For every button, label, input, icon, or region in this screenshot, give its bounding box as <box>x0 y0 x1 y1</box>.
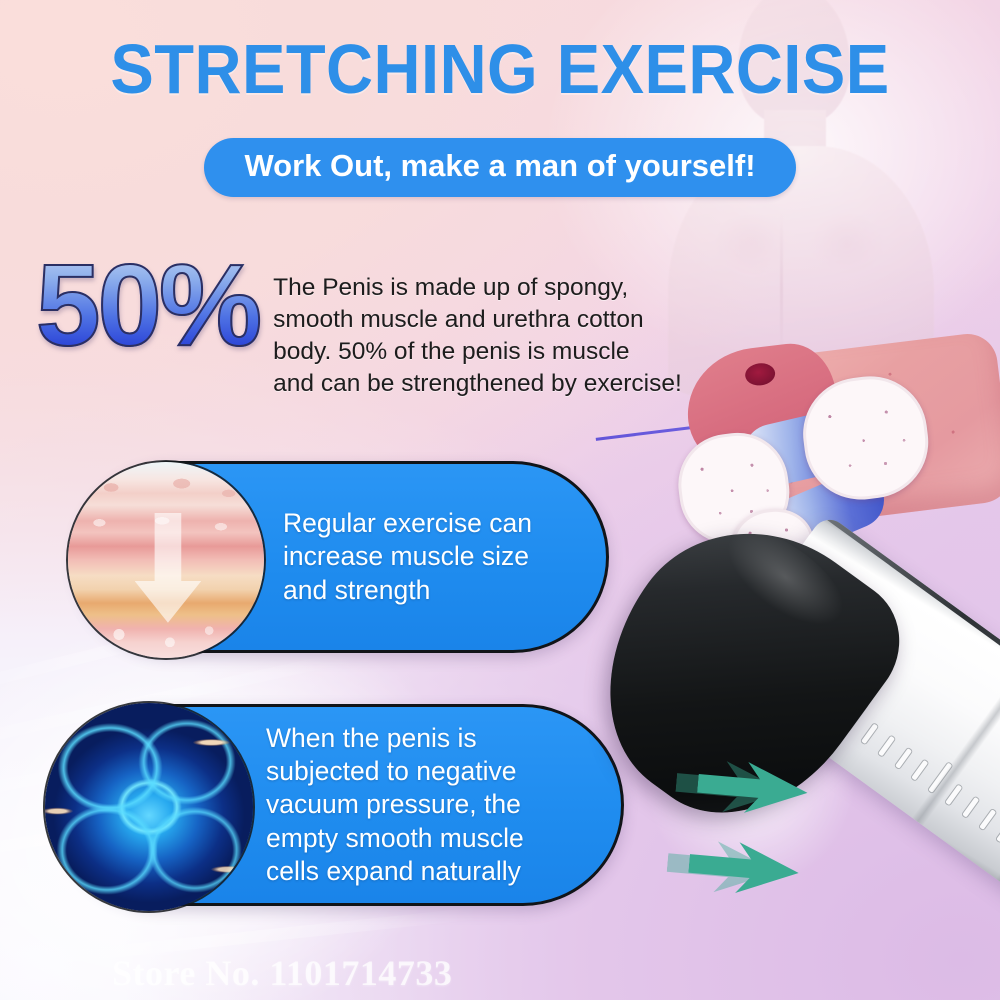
card2-line-3: vacuum pressure, the <box>266 788 524 821</box>
stat-percentage: 50% <box>36 252 259 359</box>
card2-line-5: cells expand naturally <box>266 855 524 888</box>
device-tick <box>895 748 912 769</box>
figure-pec-right <box>808 214 894 288</box>
device-tick <box>878 736 895 757</box>
page-title: STRETCHING EXERCISE <box>35 34 965 104</box>
device-tick <box>912 760 929 781</box>
device-tick <box>996 822 1000 843</box>
subtitle-banner: Work Out, make a man of yourself! <box>0 138 1000 197</box>
card1-line-1: Regular exercise can <box>283 507 532 540</box>
stat-line-3: body. 50% of the penis is muscle <box>273 336 682 368</box>
stat-description: The Penis is made up of spongy, smooth m… <box>273 258 682 400</box>
skin-layers-image <box>66 460 266 660</box>
muscle-cell-graphic <box>45 703 253 911</box>
feature-card-exercise-text: Regular exercise can increase muscle siz… <box>283 507 532 607</box>
subtitle-pill-label: Work Out, make a man of yourself! <box>204 138 795 197</box>
feature-card-vacuum-text: When the penis is subjected to negative … <box>266 722 524 889</box>
card2-line-2: subjected to negative <box>266 755 524 788</box>
muscle-cell-network-image <box>43 701 255 913</box>
store-number-watermark: Store No. 1101714733 <box>112 952 452 994</box>
feature-card-vacuum: When the penis is subjected to negative … <box>58 704 624 906</box>
feature-card-exercise: Regular exercise can increase muscle siz… <box>75 461 609 653</box>
card2-line-1: When the penis is <box>266 722 524 755</box>
skin-layers-graphic <box>68 462 264 658</box>
stat-line-4: and can be strengthened by exercise! <box>273 368 682 400</box>
card1-line-3: and strength <box>283 574 532 607</box>
device-tick <box>979 809 996 830</box>
promo-poster: STRETCHING EXERCISE Work Out, make a man… <box>0 0 1000 1000</box>
stat-line-1: The Penis is made up of spongy, <box>273 272 682 304</box>
device-tick <box>861 723 878 744</box>
stat-line-2: smooth muscle and urethra cotton <box>273 304 682 336</box>
product-device <box>640 512 1000 982</box>
device-tick <box>962 797 979 818</box>
card1-line-2: increase muscle size <box>283 540 532 573</box>
card2-line-4: empty smooth muscle <box>266 822 524 855</box>
